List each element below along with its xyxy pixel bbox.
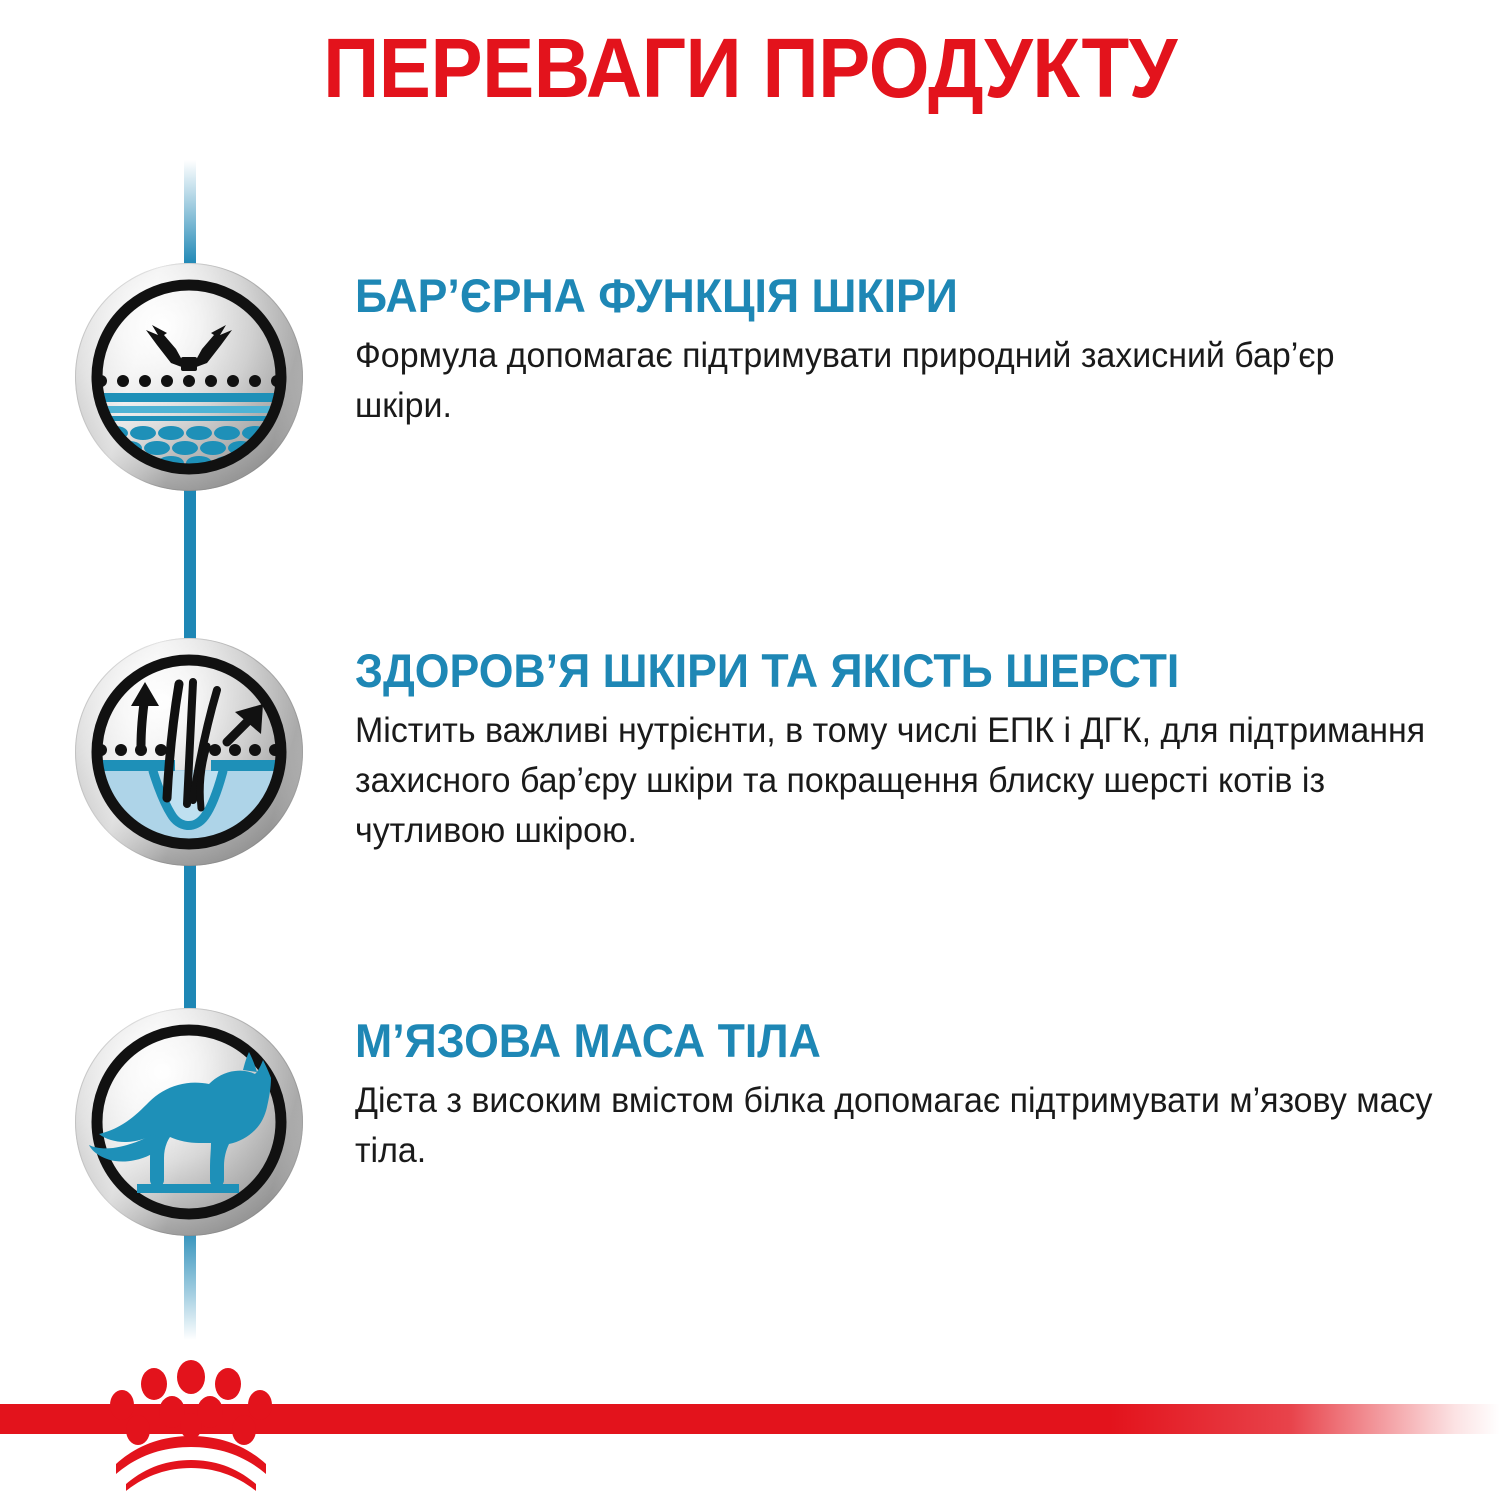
benefit-heading: ЗДОРОВ’Я ШКІРИ ТА ЯКІСТЬ ШЕРСТІ (355, 644, 1419, 698)
benefit-heading: БАР’ЄРНА ФУНКЦІЯ ШКІРИ (355, 269, 1400, 323)
cat-silhouette-icon-glyph (75, 1008, 303, 1236)
product-benefits-page: ПЕРЕВАГИ ПРОДУКТУ (0, 0, 1500, 1500)
timeline-segment-middle-2 (184, 850, 196, 1010)
royal-canin-crown-logo (96, 1360, 286, 1492)
benefit-body: Дієта з високим вмістом білка допомагає … (355, 1076, 1441, 1176)
skin-barrier-icon (75, 263, 303, 491)
page-title: ПЕРЕВАГИ ПРОДУКТУ (53, 22, 1448, 114)
cat-silhouette-muscle-mass-icon (75, 1008, 303, 1236)
benefit-body: Формула допомагає підтримувати природний… (355, 331, 1422, 431)
hair-follicle-icon-glyph (75, 638, 303, 866)
hair-follicle-skin-health-icon (75, 638, 303, 866)
timeline-segment-bottom (184, 1220, 196, 1340)
benefit-body: Містить важливі нутрієнти, в тому числі … (355, 706, 1441, 856)
benefit-heading: М’ЯЗОВА МАСА ТІЛА (355, 1014, 1419, 1068)
timeline-segment-middle-1 (184, 478, 196, 643)
benefit-text-block: БАР’ЄРНА ФУНКЦІЯ ШКІРИ Формула допомагає… (355, 269, 1455, 431)
benefit-text-block: ЗДОРОВ’Я ШКІРИ ТА ЯКІСТЬ ШЕРСТІ Містить … (355, 644, 1475, 856)
benefit-text-block: М’ЯЗОВА МАСА ТІЛА Дієта з високим вмісто… (355, 1014, 1475, 1176)
footer (0, 1360, 1500, 1500)
skin-barrier-icon-glyph (75, 263, 303, 491)
